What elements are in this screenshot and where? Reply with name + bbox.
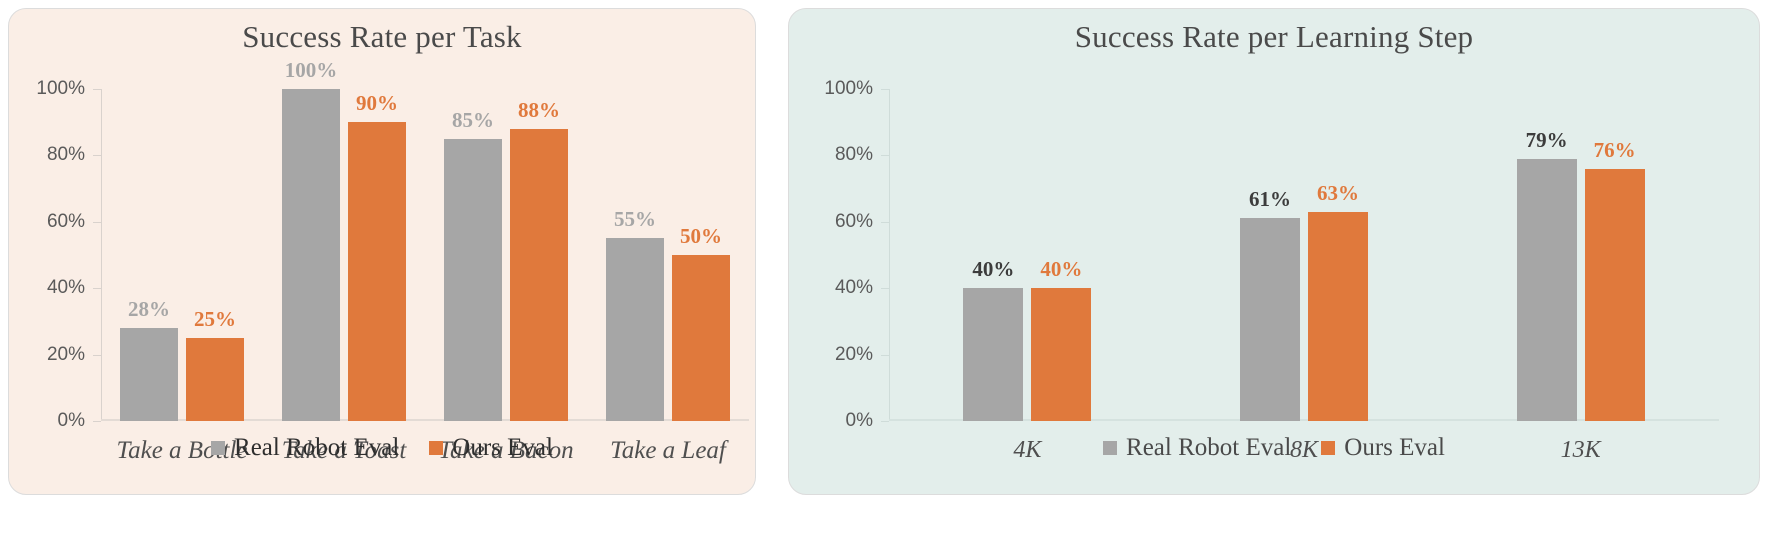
- bar-value-label: 90%: [356, 91, 398, 116]
- bar-group: 85%88%Take a Bacon: [425, 89, 587, 421]
- bar-ours-eval[interactable]: [348, 122, 406, 421]
- bar-value-label: 88%: [518, 98, 560, 123]
- bar-value-label: 76%: [1594, 138, 1636, 163]
- legend-item-ours-eval[interactable]: Ours Eval: [429, 434, 553, 462]
- legend-label: Ours Eval: [452, 434, 553, 462]
- bar-ours-eval[interactable]: [510, 129, 568, 421]
- y-axis-tick-label: 60%: [835, 211, 873, 233]
- legend-item-ours-eval[interactable]: Ours Eval: [1321, 434, 1445, 462]
- bar-ours-eval[interactable]: [1031, 288, 1091, 421]
- bar-real-robot-eval[interactable]: [120, 328, 178, 421]
- legend-swatch-icon: [211, 441, 225, 455]
- bar-group: 100%90%Take a Toast: [263, 89, 425, 421]
- bar-wrapper: 100%: [282, 89, 340, 421]
- bar-value-label: 25%: [194, 307, 236, 332]
- y-axis-tick: [93, 288, 101, 289]
- y-axis-tick: [93, 155, 101, 156]
- bar-value-label: 40%: [972, 257, 1014, 282]
- chart-title-left: Success Rate per Task: [9, 19, 755, 55]
- y-axis-tick: [881, 89, 889, 90]
- y-axis-tick: [881, 421, 889, 422]
- y-axis-tick-label: 0%: [846, 410, 873, 432]
- bar-value-label: 63%: [1317, 181, 1359, 206]
- y-axis-tick: [881, 355, 889, 356]
- bar-group: 40%40%4K: [889, 89, 1166, 421]
- bar-real-robot-eval[interactable]: [282, 89, 340, 421]
- legend-swatch-icon: [1103, 441, 1117, 455]
- bar-value-label: 100%: [285, 58, 338, 83]
- bar-wrapper: 76%: [1585, 89, 1645, 421]
- legend-label: Real Robot Eval: [234, 434, 399, 462]
- y-axis-tick-label: 80%: [835, 144, 873, 166]
- y-axis-tick-label: 40%: [47, 277, 85, 299]
- y-axis-tick: [93, 421, 101, 422]
- plot-area-right: 0%20%40%60%80%100% 40%40%4K61%63%8K79%76…: [889, 89, 1719, 421]
- y-axis-tick-label: 100%: [824, 78, 873, 100]
- legend-left: Real Robot EvalOurs Eval: [9, 434, 755, 462]
- y-axis-tick: [881, 155, 889, 156]
- y-axis-tick-label: 80%: [47, 144, 85, 166]
- bar-group: 79%76%13K: [1442, 89, 1719, 421]
- y-axis-tick-label: 20%: [835, 344, 873, 366]
- figure-canvas: Success Rate per Task 0%20%40%60%80%100%…: [0, 0, 1774, 550]
- bar-wrapper: 61%: [1240, 89, 1300, 421]
- y-axis-tick-label: 60%: [47, 211, 85, 233]
- y-axis-tick: [881, 288, 889, 289]
- legend-right: Real Robot EvalOurs Eval: [789, 434, 1759, 462]
- legend-item-real-robot-eval[interactable]: Real Robot Eval: [1103, 434, 1291, 462]
- legend-label: Real Robot Eval: [1126, 434, 1291, 462]
- bar-group: 55%50%Take a Leaf: [587, 89, 749, 421]
- chart-panel-success-rate-per-learning-step: Success Rate per Learning Step 0%20%40%6…: [788, 8, 1760, 495]
- bar-wrapper: 88%: [510, 89, 568, 421]
- y-axis-tick: [93, 89, 101, 90]
- legend-label: Ours Eval: [1344, 434, 1445, 462]
- bar-group: 28%25%Take a Bottle: [101, 89, 263, 421]
- legend-swatch-icon: [429, 441, 443, 455]
- bar-ours-eval[interactable]: [186, 338, 244, 421]
- bar-value-label: 40%: [1040, 257, 1082, 282]
- chart-title-right: Success Rate per Learning Step: [789, 19, 1759, 55]
- bar-group: 61%63%8K: [1166, 89, 1443, 421]
- y-axis-tick-label: 40%: [835, 277, 873, 299]
- bar-value-label: 50%: [680, 224, 722, 249]
- bar-wrapper: 85%: [444, 89, 502, 421]
- bar-value-label: 28%: [128, 297, 170, 322]
- y-axis-tick: [93, 222, 101, 223]
- bar-value-label: 55%: [614, 207, 656, 232]
- bar-real-robot-eval[interactable]: [606, 238, 664, 421]
- bar-real-robot-eval[interactable]: [963, 288, 1023, 421]
- bar-ours-eval[interactable]: [672, 255, 730, 421]
- bar-wrapper: 28%: [120, 89, 178, 421]
- bar-ours-eval[interactable]: [1585, 169, 1645, 421]
- y-axis-tick-label: 0%: [58, 410, 85, 432]
- bar-value-label: 85%: [452, 108, 494, 133]
- bar-wrapper: 40%: [963, 89, 1023, 421]
- y-axis-tick: [93, 355, 101, 356]
- bar-wrapper: 55%: [606, 89, 664, 421]
- bar-wrapper: 50%: [672, 89, 730, 421]
- bar-wrapper: 25%: [186, 89, 244, 421]
- bar-ours-eval[interactable]: [1308, 212, 1368, 421]
- legend-swatch-icon: [1321, 441, 1335, 455]
- plot-area-left: 0%20%40%60%80%100% 28%25%Take a Bottle10…: [101, 89, 749, 421]
- bar-real-robot-eval[interactable]: [1517, 159, 1577, 421]
- y-axis-tick: [881, 222, 889, 223]
- chart-panel-success-rate-per-task: Success Rate per Task 0%20%40%60%80%100%…: [8, 8, 756, 495]
- bar-value-label: 61%: [1249, 187, 1291, 212]
- bar-real-robot-eval[interactable]: [1240, 218, 1300, 421]
- legend-item-real-robot-eval[interactable]: Real Robot Eval: [211, 434, 399, 462]
- bar-wrapper: 40%: [1031, 89, 1091, 421]
- bar-wrapper: 63%: [1308, 89, 1368, 421]
- bar-wrapper: 90%: [348, 89, 406, 421]
- y-axis-tick-label: 100%: [36, 78, 85, 100]
- bar-value-label: 79%: [1526, 128, 1568, 153]
- bar-real-robot-eval[interactable]: [444, 139, 502, 421]
- bar-wrapper: 79%: [1517, 89, 1577, 421]
- y-axis-tick-label: 20%: [47, 344, 85, 366]
